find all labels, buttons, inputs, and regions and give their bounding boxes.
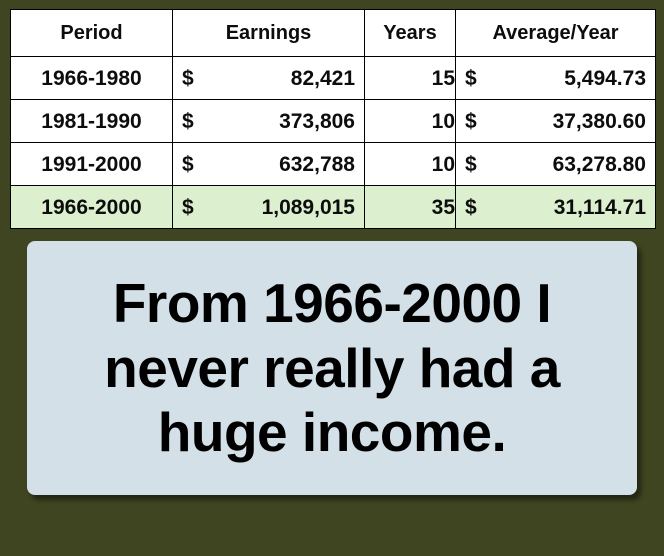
average-value: 5,494.73 bbox=[564, 68, 646, 89]
currency-symbol: $ bbox=[182, 154, 194, 175]
table-row: 1981-1990 $ 373,806 10 $ 37,380.60 bbox=[11, 100, 656, 143]
average-value: 63,278.80 bbox=[553, 154, 646, 175]
cell-years: 15 bbox=[365, 57, 456, 100]
cell-period: 1966-2000 bbox=[11, 186, 173, 229]
earnings-value: 373,806 bbox=[279, 111, 355, 132]
earnings-value: 82,421 bbox=[291, 68, 355, 89]
cell-average-year: $ 37,380.60 bbox=[456, 100, 656, 143]
table-row: 1966-1980 $ 82,421 15 $ 5,494.73 bbox=[11, 57, 656, 100]
cell-earnings: $ 632,788 bbox=[173, 143, 365, 186]
cell-average-year: $ 5,494.73 bbox=[456, 57, 656, 100]
average-value: 31,114.71 bbox=[554, 197, 646, 218]
currency-symbol: $ bbox=[182, 111, 194, 132]
cell-average-year: $ 31,114.71 bbox=[456, 186, 656, 229]
currency-symbol: $ bbox=[465, 154, 477, 175]
currency-symbol: $ bbox=[182, 68, 194, 89]
average-value: 37,380.60 bbox=[553, 111, 646, 132]
cell-average-year: $ 63,278.80 bbox=[456, 143, 656, 186]
table-row: 1991-2000 $ 632,788 10 $ 63,278.80 bbox=[11, 143, 656, 186]
cell-period: 1991-2000 bbox=[11, 143, 173, 186]
column-header-years: Years bbox=[365, 10, 456, 57]
currency-symbol: $ bbox=[465, 197, 477, 218]
column-header-average-year: Average/Year bbox=[456, 10, 656, 57]
cell-years: 10 bbox=[365, 143, 456, 186]
currency-symbol: $ bbox=[465, 111, 477, 132]
callout-text-box: From 1966-2000 I never really had a huge… bbox=[27, 241, 637, 495]
currency-symbol: $ bbox=[182, 197, 194, 218]
cell-earnings: $ 373,806 bbox=[173, 100, 365, 143]
cell-period: 1981-1990 bbox=[11, 100, 173, 143]
cell-years: 10 bbox=[365, 100, 456, 143]
table-total-row: 1966-2000 $ 1,089,015 35 $ 31,114.71 bbox=[11, 186, 656, 229]
earnings-value: 1,089,015 bbox=[262, 197, 355, 218]
column-header-earnings: Earnings bbox=[173, 10, 365, 57]
cell-period: 1966-1980 bbox=[11, 57, 173, 100]
currency-symbol: $ bbox=[465, 68, 477, 89]
earnings-table: Period Earnings Years Average/Year 1966-… bbox=[10, 9, 656, 229]
cell-earnings: $ 1,089,015 bbox=[173, 186, 365, 229]
cell-years: 35 bbox=[365, 186, 456, 229]
earnings-value: 632,788 bbox=[279, 154, 355, 175]
earnings-table-container: Period Earnings Years Average/Year 1966-… bbox=[10, 9, 655, 225]
column-header-period: Period bbox=[11, 10, 173, 57]
cell-earnings: $ 82,421 bbox=[173, 57, 365, 100]
callout-message: From 1966-2000 I never really had a huge… bbox=[67, 271, 597, 466]
table-header-row: Period Earnings Years Average/Year bbox=[11, 10, 656, 57]
